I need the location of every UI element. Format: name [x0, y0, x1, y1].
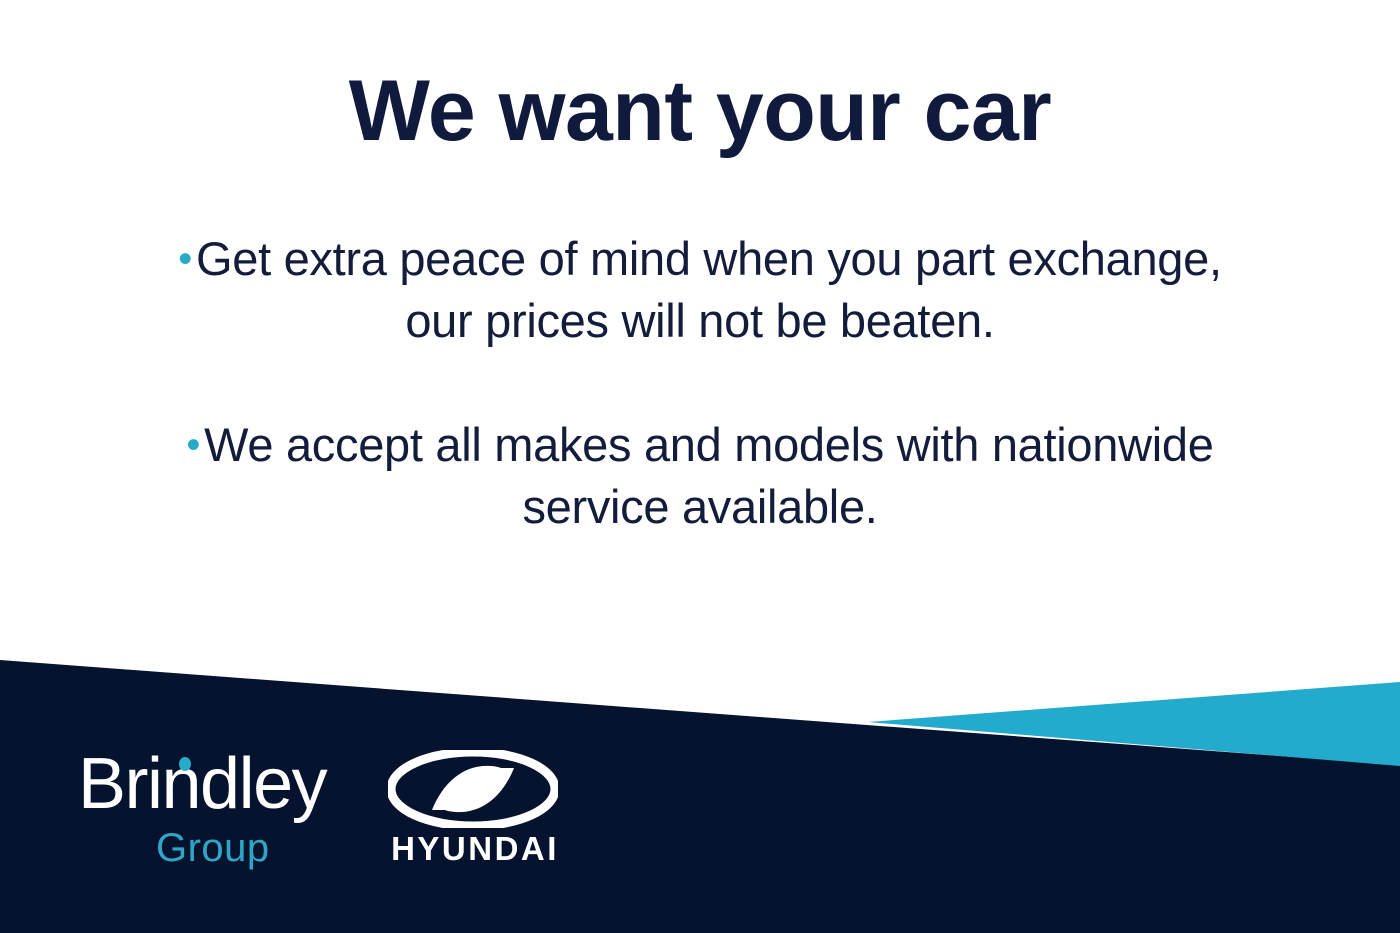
bullet-dot-icon: •	[186, 423, 204, 467]
hyundai-logo: HYUNDAI	[370, 750, 580, 875]
brindley-group-logo: Brindley Group	[78, 748, 348, 878]
page-title: We want your car	[0, 68, 1400, 154]
promotional-banner: We want your car •Get extra peace of min…	[0, 0, 1400, 933]
list-item: •We accept all makes and models with nat…	[160, 414, 1240, 538]
list-item-text: Get extra peace of mind when you part ex…	[196, 232, 1222, 347]
bullet-dot-icon: •	[178, 237, 196, 281]
hyundai-h-ellipse-icon	[388, 750, 558, 828]
brindley-group-subtext: Group	[156, 828, 270, 868]
hyundai-wordmark: HYUNDAI	[370, 832, 580, 865]
brindley-wordmark: Brindley	[78, 748, 326, 820]
list-item: •Get extra peace of mind when you part e…	[160, 228, 1240, 352]
list-item-text: We accept all makes and models with nati…	[204, 418, 1213, 533]
brindley-teal-dot-icon	[179, 757, 191, 771]
bullet-list: •Get extra peace of mind when you part e…	[160, 228, 1240, 538]
teal-wedge-shape	[868, 682, 1400, 766]
